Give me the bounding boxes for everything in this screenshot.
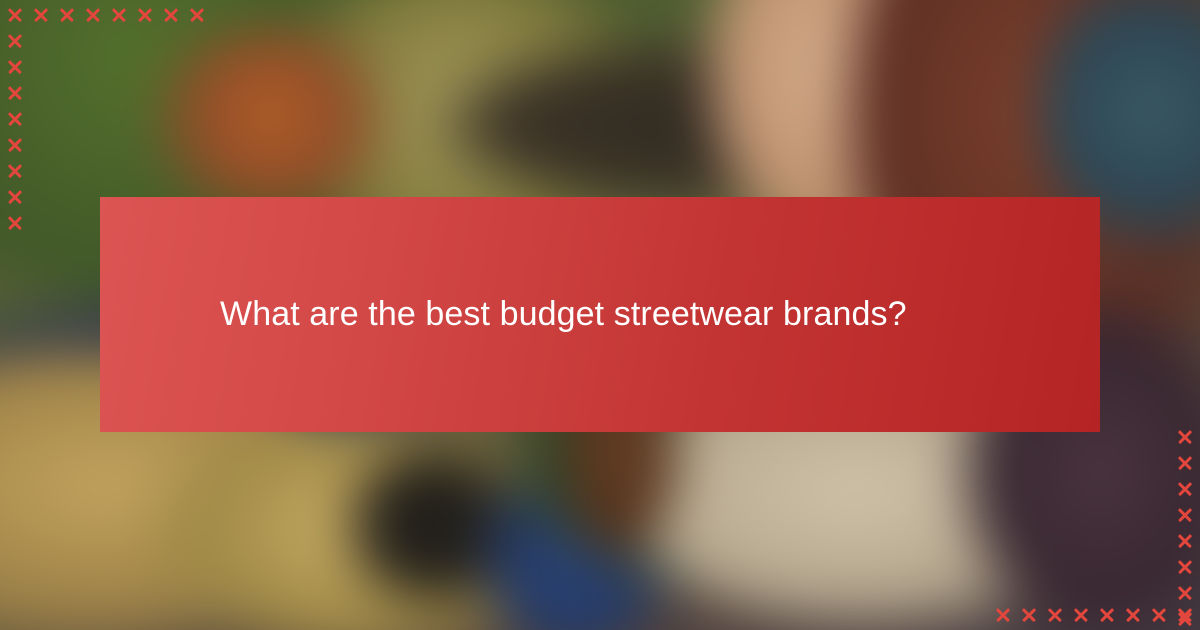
x-icon <box>28 2 54 28</box>
x-icon <box>2 132 28 158</box>
x-icon <box>1068 602 1094 628</box>
x-icon <box>2 210 28 236</box>
x-icon <box>1172 602 1198 628</box>
x-icon <box>1172 424 1198 450</box>
x-icon <box>54 2 80 28</box>
x-icon <box>2 54 28 80</box>
x-icon <box>990 602 1016 628</box>
x-icon <box>2 28 28 54</box>
decorative-x-pattern-left <box>2 28 28 236</box>
x-icon <box>1042 602 1068 628</box>
decorative-x-pattern-bottom <box>990 602 1198 628</box>
x-icon <box>1172 476 1198 502</box>
x-icon <box>2 158 28 184</box>
question-banner: What are the best budget streetwear bran… <box>100 197 1100 432</box>
x-icon <box>1120 602 1146 628</box>
x-icon <box>184 2 210 28</box>
bg-blob-orange-object <box>150 30 390 220</box>
x-icon <box>158 2 184 28</box>
x-icon <box>1172 502 1198 528</box>
question-title: What are the best budget streetwear bran… <box>220 293 907 336</box>
x-icon <box>106 2 132 28</box>
x-icon <box>1016 602 1042 628</box>
x-icon <box>1094 602 1120 628</box>
x-icon <box>1172 554 1198 580</box>
social-share-card: What are the best budget streetwear bran… <box>0 0 1200 630</box>
decorative-x-pattern-top <box>2 2 210 28</box>
x-icon <box>1172 528 1198 554</box>
x-icon <box>1146 602 1172 628</box>
x-icon <box>2 2 28 28</box>
decorative-x-pattern-right <box>1172 424 1198 630</box>
x-icon <box>1172 450 1198 476</box>
x-icon <box>132 2 158 28</box>
x-icon <box>2 80 28 106</box>
x-icon <box>80 2 106 28</box>
x-icon <box>2 106 28 132</box>
x-icon <box>2 184 28 210</box>
